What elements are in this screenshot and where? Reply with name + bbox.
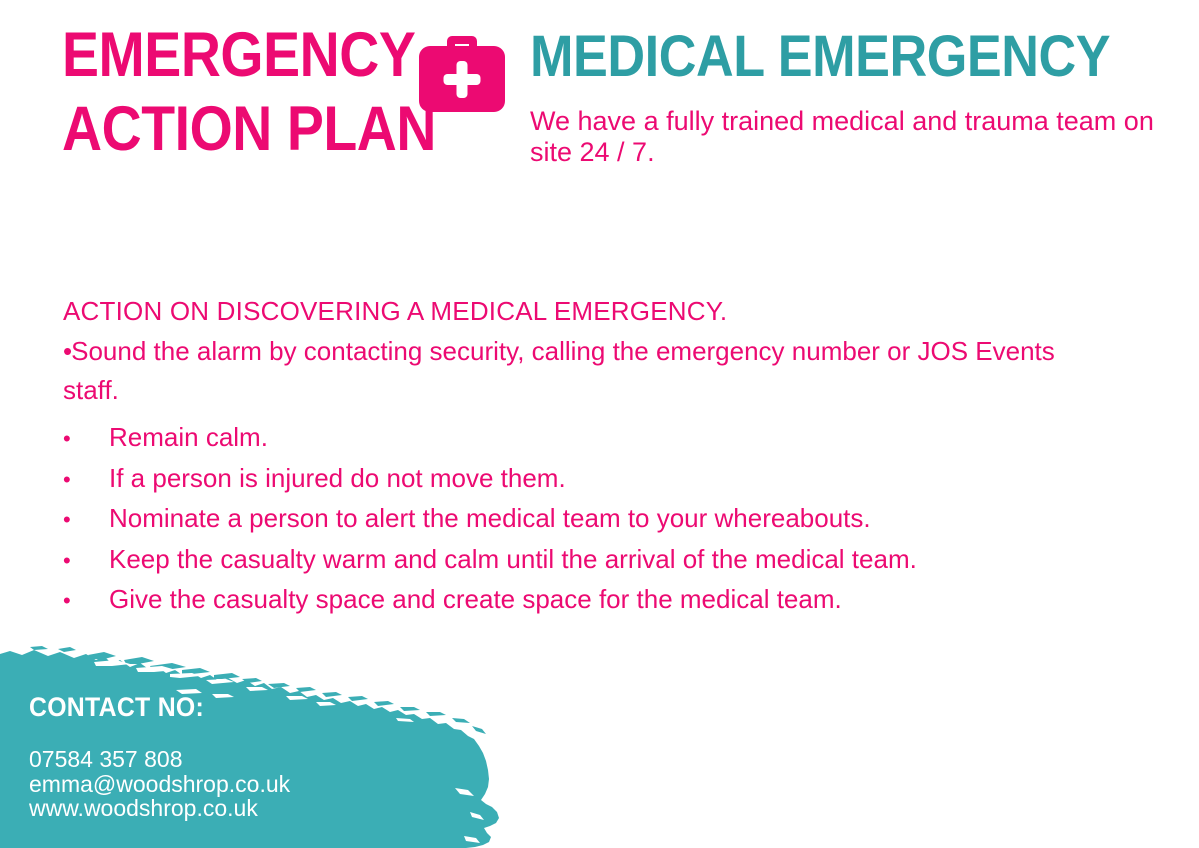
list-item-label: Give the casualty space and create space… [109, 580, 1093, 619]
emergency-action-plan-page: EMERGENCY ACTION PLAN MEDICAL EMERGENCY … [0, 0, 1199, 848]
page-header: EMERGENCY ACTION PLAN MEDICAL EMERGENCY … [0, 0, 1199, 200]
lead-paragraph: •Sound the alarm by contacting security,… [63, 332, 1093, 410]
list-item-label: If a person is injured do not move them. [109, 459, 1093, 498]
contact-phone: 07584 357 808 [29, 747, 449, 772]
bullet-glyph: • [63, 582, 109, 621]
contact-label: CONTACT NO: [29, 692, 415, 722]
list-item: • Keep the casualty warm and calm until … [63, 540, 1093, 581]
document-title: EMERGENCY ACTION PLAN [62, 18, 412, 166]
list-item: • If a person is injured do not move the… [63, 459, 1093, 500]
document-title-line-2: ACTION PLAN [62, 92, 370, 166]
contact-email[interactable]: emma@woodshrop.co.uk [29, 772, 449, 797]
header-right-column: MEDICAL EMERGENCY We have a fully traine… [530, 26, 1170, 168]
first-aid-bag-icon [416, 24, 508, 114]
list-item: • Give the casualty space and create spa… [63, 580, 1093, 621]
bullet-glyph: • [63, 501, 109, 540]
section-subtitle: We have a fully trained medical and trau… [530, 106, 1170, 168]
list-item-label: Keep the casualty warm and calm until th… [109, 540, 1093, 579]
list-item: • Remain calm. [63, 418, 1093, 459]
bullet-glyph: • [63, 542, 109, 581]
contact-website[interactable]: www.woodshrop.co.uk [29, 796, 449, 821]
document-title-line-1: EMERGENCY [62, 18, 370, 92]
bullet-glyph: • [63, 420, 109, 459]
list-item-label: Remain calm. [109, 418, 1093, 457]
list-item: • Nominate a person to alert the medical… [63, 499, 1093, 540]
bullet-glyph: • [63, 461, 109, 500]
list-item-label: Nominate a person to alert the medical t… [109, 499, 1093, 538]
footer-contact-block: CONTACT NO: 07584 357 808 emma@woodshrop… [29, 692, 449, 821]
section-heading: MEDICAL EMERGENCY [530, 26, 1106, 88]
contact-details: 07584 357 808 emma@woodshrop.co.uk www.w… [29, 747, 449, 821]
action-bullet-list: • Remain calm. • If a person is injured … [63, 418, 1093, 621]
lead-paragraph-text: Sound the alarm by contacting security, … [63, 336, 1055, 405]
lead-bullet-glyph: • [63, 336, 71, 366]
body-heading: ACTION ON DISCOVERING A MEDICAL EMERGENC… [63, 292, 1093, 330]
body-content: ACTION ON DISCOVERING A MEDICAL EMERGENC… [63, 292, 1093, 621]
